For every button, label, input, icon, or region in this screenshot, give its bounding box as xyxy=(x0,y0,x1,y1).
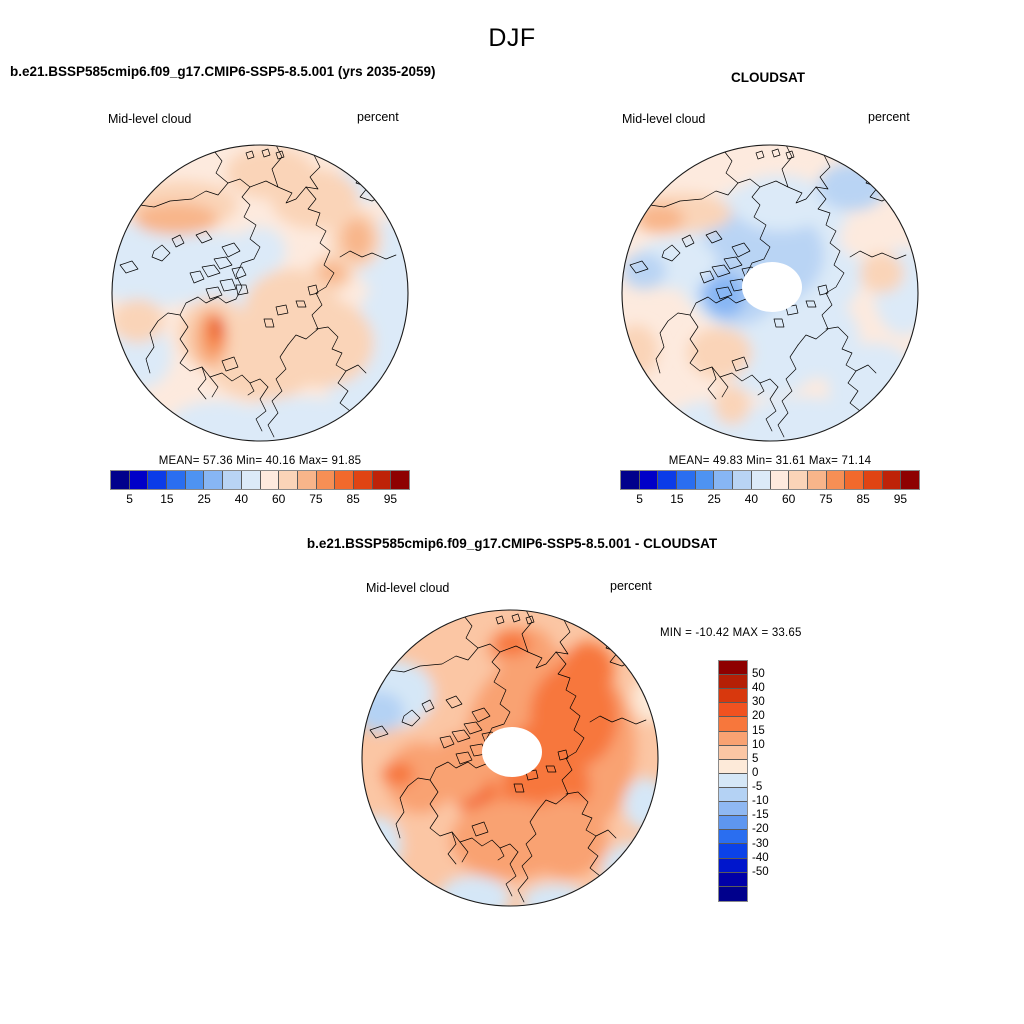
panel-obs-units-label: percent xyxy=(868,110,910,124)
colorbar-tick-label: -5 xyxy=(752,781,762,793)
colorbar-tick-label: 95 xyxy=(894,492,907,506)
polar-map-difference-svg xyxy=(360,608,660,908)
colorbar-tick-label: 0 xyxy=(752,767,758,779)
colorbar-cell xyxy=(719,746,747,760)
colorbar-obs[interactable] xyxy=(620,470,920,490)
colorbar-cell xyxy=(223,471,242,489)
colorbar-tick-label: 40 xyxy=(235,492,248,506)
colorbar-cell xyxy=(771,471,790,489)
colorbar-model-ticks: 515254060758595 xyxy=(110,492,410,510)
colorbar-cell xyxy=(391,471,409,489)
colorbar-cell xyxy=(719,732,747,746)
colorbar-cell xyxy=(808,471,827,489)
panel-obs-title: CLOUDSAT xyxy=(0,70,1024,85)
colorbar-tick-label: -40 xyxy=(752,852,769,864)
colorbar-cell xyxy=(714,471,733,489)
colorbar-cell xyxy=(242,471,261,489)
panel-difference-variable-label: Mid-level cloud xyxy=(366,581,449,595)
colorbar-tick-label: 85 xyxy=(856,492,869,506)
colorbar-tick-label: -30 xyxy=(752,838,769,850)
colorbar-cell xyxy=(719,661,747,675)
colorbar-cell xyxy=(752,471,771,489)
colorbar-cell xyxy=(719,802,747,816)
colorbar-cell xyxy=(335,471,354,489)
colorbar-tick-label: 85 xyxy=(346,492,359,506)
colorbar-cell xyxy=(719,675,747,689)
colorbar-cell xyxy=(719,774,747,788)
colorbar-tick-label: 75 xyxy=(309,492,322,506)
colorbar-tick-label: -15 xyxy=(752,809,769,821)
panel-difference-title: b.e21.BSSP585cmip6.f09_g17.CMIP6-SSP5-8.… xyxy=(0,536,1024,551)
panel-difference-stats: MIN = -10.42 MAX = 33.65 xyxy=(660,627,802,639)
colorbar-tick-label: 25 xyxy=(197,492,210,506)
colorbar-cell xyxy=(719,844,747,858)
colorbar-tick-label: 40 xyxy=(745,492,758,506)
panel-obs-stats: MEAN= 49.83 Min= 31.61 Max= 71.14 xyxy=(620,455,920,467)
colorbar-tick-label: -20 xyxy=(752,823,769,835)
colorbar-cell xyxy=(658,471,677,489)
colorbar-tick-label: 25 xyxy=(707,492,720,506)
colorbar-cell xyxy=(719,788,747,802)
polar-map-difference xyxy=(360,608,660,908)
colorbar-tick-label: -10 xyxy=(752,795,769,807)
colorbar-tick-label: 15 xyxy=(160,492,173,506)
colorbar-cell xyxy=(621,471,640,489)
colorbar-cell xyxy=(864,471,883,489)
colorbar-cell xyxy=(186,471,205,489)
colorbar-cell xyxy=(733,471,752,489)
colorbar-cell xyxy=(373,471,392,489)
colorbar-cell xyxy=(204,471,223,489)
panel-model-variable-label: Mid-level cloud xyxy=(108,112,191,126)
colorbar-cell xyxy=(130,471,149,489)
colorbar-obs-ticks: 515254060758595 xyxy=(620,492,920,510)
colorbar-tick-label: 50 xyxy=(752,668,765,680)
polar-data-hole-obs xyxy=(742,262,802,312)
polar-map-model xyxy=(110,143,410,443)
colorbar-tick-label: 15 xyxy=(752,725,765,737)
colorbar-cell xyxy=(354,471,373,489)
colorbar-cell xyxy=(640,471,659,489)
colorbar-cell xyxy=(789,471,808,489)
colorbar-model[interactable] xyxy=(110,470,410,490)
colorbar-cell xyxy=(261,471,280,489)
colorbar-tick-label: 60 xyxy=(782,492,795,506)
colorbar-cell xyxy=(279,471,298,489)
colorbar-tick-label: 5 xyxy=(752,753,758,765)
colorbar-tick-label: 40 xyxy=(752,682,765,694)
colorbar-cell xyxy=(719,689,747,703)
colorbar-tick-label: 30 xyxy=(752,696,765,708)
panel-model-units-label: percent xyxy=(357,110,399,124)
colorbar-cell xyxy=(719,703,747,717)
colorbar-cell xyxy=(719,717,747,731)
colorbar-cell xyxy=(148,471,167,489)
colorbar-tick-label: 10 xyxy=(752,739,765,751)
colorbar-cell xyxy=(298,471,317,489)
colorbar-difference[interactable] xyxy=(718,660,748,902)
polar-map-model-svg xyxy=(110,143,410,443)
polar-map-obs-svg xyxy=(620,143,920,443)
polar-map-obs xyxy=(620,143,920,443)
polar-data-hole-difference xyxy=(482,727,542,777)
colorbar-cell xyxy=(883,471,902,489)
colorbar-cell xyxy=(719,873,747,887)
colorbar-cell xyxy=(901,471,919,489)
colorbar-tick-label: 5 xyxy=(636,492,643,506)
colorbar-cell xyxy=(719,816,747,830)
colorbar-cell xyxy=(677,471,696,489)
panel-obs-variable-label: Mid-level cloud xyxy=(622,112,705,126)
colorbar-tick-label: 20 xyxy=(752,710,765,722)
colorbar-tick-label: 75 xyxy=(819,492,832,506)
colorbar-tick-label: 95 xyxy=(384,492,397,506)
colorbar-cell xyxy=(827,471,846,489)
colorbar-cell xyxy=(719,760,747,774)
panel-model-stats: MEAN= 57.36 Min= 40.16 Max= 91.85 xyxy=(110,455,410,467)
colorbar-tick-label: 60 xyxy=(272,492,285,506)
colorbar-cell xyxy=(719,859,747,873)
colorbar-tick-label: -50 xyxy=(752,866,769,878)
colorbar-cell xyxy=(845,471,864,489)
season-title: DJF xyxy=(0,24,1024,53)
colorbar-cell xyxy=(111,471,130,489)
colorbar-cell xyxy=(719,830,747,844)
colorbar-cell xyxy=(696,471,715,489)
panel-difference-units-label: percent xyxy=(610,579,652,593)
colorbar-tick-label: 15 xyxy=(670,492,683,506)
colorbar-cell xyxy=(167,471,186,489)
colorbar-tick-label: 5 xyxy=(126,492,133,506)
colorbar-difference-ticks: 50403020151050-5-10-15-20-30-40-50 xyxy=(752,660,792,900)
colorbar-cell xyxy=(317,471,336,489)
colorbar-cell xyxy=(719,887,747,901)
